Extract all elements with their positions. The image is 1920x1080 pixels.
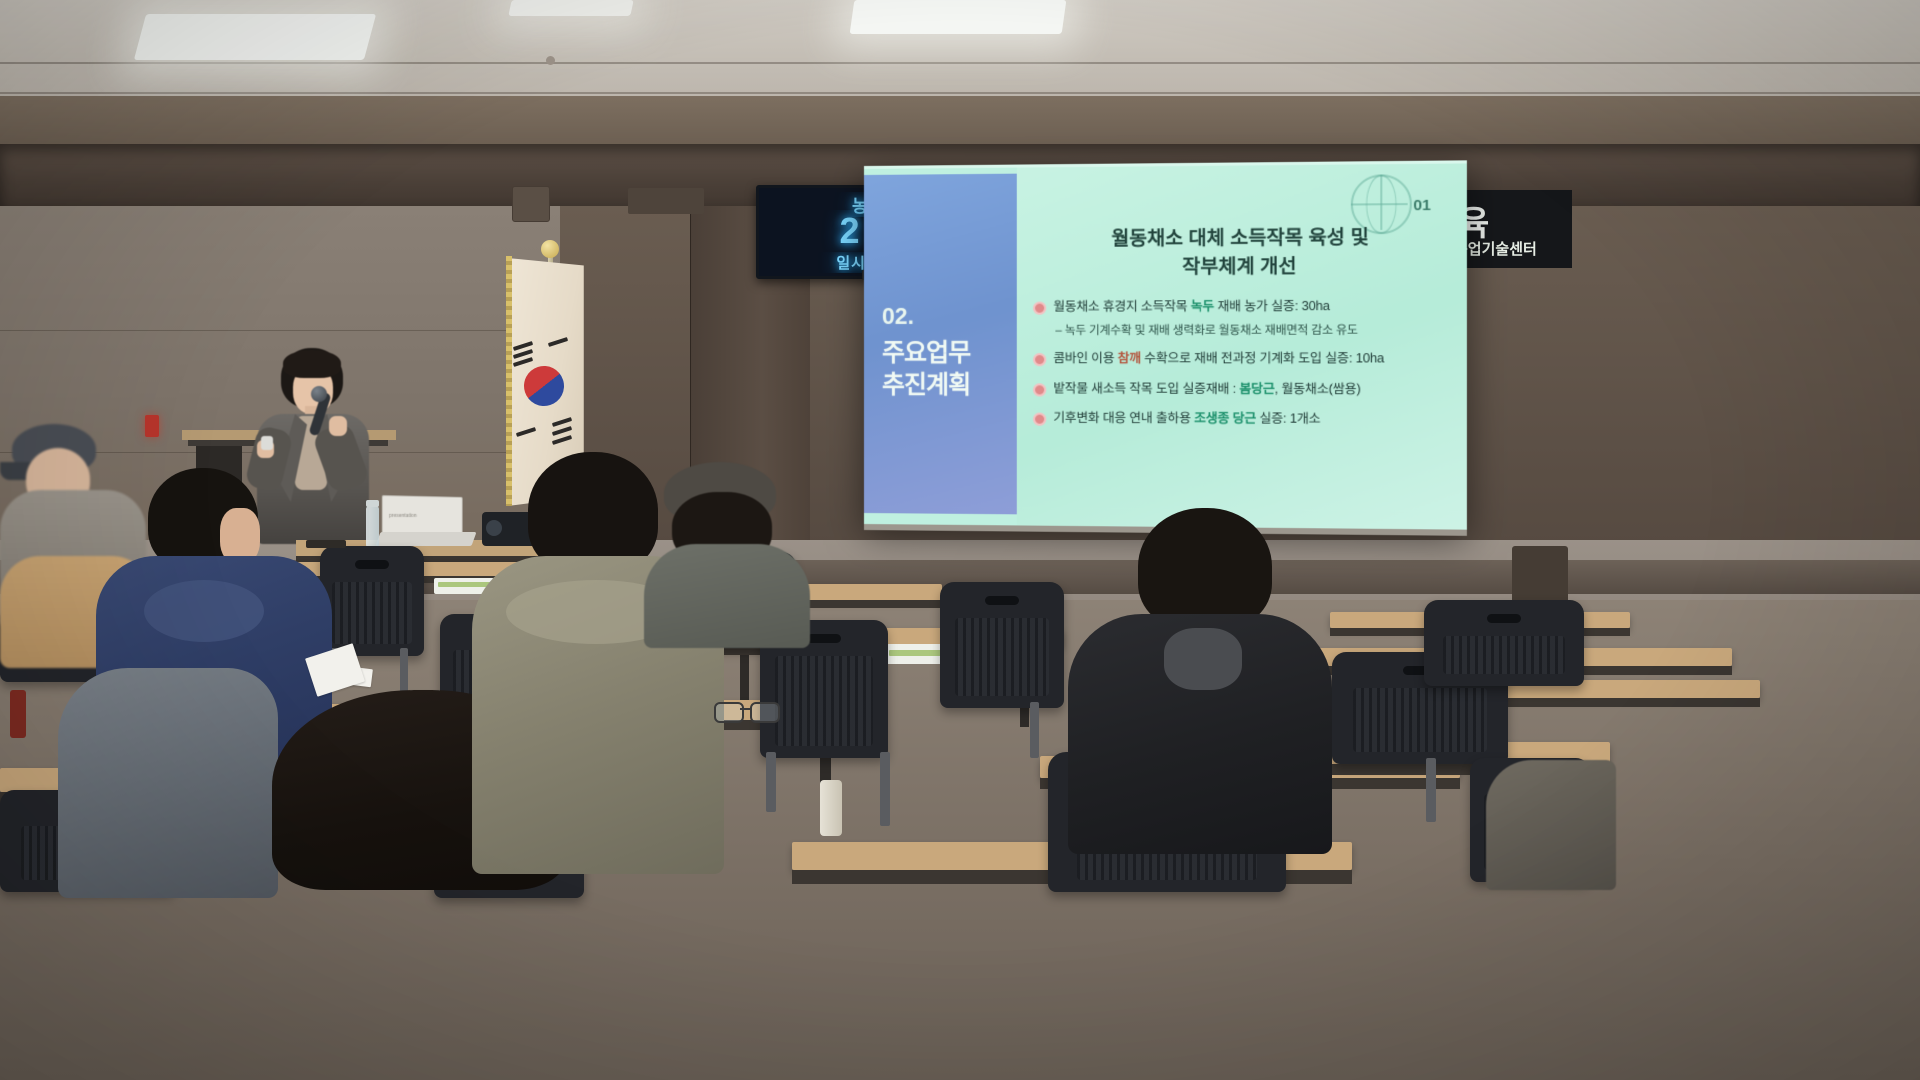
chair-handle-slot [985,596,1019,605]
projection-screen: 02. 주요업무 추진계획 01 월동채소 대체 소득작목 육성 및 작부체계 … [864,160,1467,529]
slide-bullet-list: 월동채소 휴경지 소득작목 녹두 재배 농가 실증: 30ha – 녹두 기계수… [1033,298,1454,441]
slide-bullet-item: 월동채소 휴경지 소득작목 녹두 재배 농가 실증: 30ha [1033,298,1454,315]
presenter-hand-right [329,416,347,436]
slide-bullet-item: 밭작물 새소득 작목 도입 실증재배 : 봄당근, 월동채소(쌈용) [1033,380,1454,398]
chair-leg [880,752,890,826]
ceiling-seam [0,92,1920,94]
person-torso [1486,760,1616,890]
chair-leg [766,752,776,812]
hoodie-hood [144,580,264,642]
water-bottle [366,506,379,548]
lecture-room-photo: 농업· 2 0 일시: 2025, 육 농업기술센터 02. 주요업무 추진계획… [0,0,1920,1080]
chair-back-vents [332,582,411,644]
bullet-text: 기후변화 대응 연내 출하용 조생종 당근 실증: 1개소 [1053,409,1320,427]
air-vent-icon [628,188,704,214]
water-bottle-cap [366,500,379,507]
remote-control [306,540,346,548]
person-torso [644,544,810,648]
audience-person [58,668,278,898]
ceiling-seam [0,62,1920,64]
bullet-dot-icon [1033,302,1046,315]
bullet-dot-icon [1033,383,1046,396]
slide-title-line2: 작부체계 개선 [1027,252,1456,282]
bullet-text: 밭작물 새소득 작목 도입 실증재배 : 봄당근, 월동채소(쌈용) [1053,380,1360,397]
flag-finial [541,240,559,258]
ceiling-light-panel [134,14,376,60]
slide-section-number: 02. [882,303,914,330]
person-head [1138,508,1272,630]
slide-bullet-item: 콤바인 이용 참깨 수확으로 재배 전과정 기계화 도입 실증: 10ha [1033,350,1454,367]
bullet-text: 콤바인 이용 참깨 수확으로 재배 전과정 기계화 도입 실증: 10ha [1053,350,1384,367]
wall-speaker-icon [512,186,550,222]
bullet-text: 월동채소 휴경지 소득작목 녹두 재배 농가 실증: 30ha [1053,298,1329,315]
person-collar [1164,628,1242,690]
chair-handle-slot [807,634,841,643]
slide-surface: 02. 주요업무 추진계획 01 월동채소 대체 소득작목 육성 및 작부체계 … [864,160,1467,529]
slide-title: 월동채소 대체 소득작목 육성 및 작부체계 개선 [1027,223,1456,281]
chair-back-vents [955,618,1049,696]
laptop-keyboard [375,532,476,546]
chair[interactable] [940,582,1064,708]
bullet-dot-icon [1033,353,1046,366]
person-torso [58,668,278,898]
slide-bullet-subtext: – 녹두 기계수확 및 재배 생력화로 월동채소 재배면적 감소 유도 [1055,322,1454,339]
slide-section-title-line1: 주요업무 [882,333,970,369]
chair-handle-slot [355,560,389,569]
slide-section-title-line2: 추진계획 [882,365,970,401]
ceiling-light-panel [508,0,633,16]
water-bottle [820,780,842,836]
presenter-fringe [283,350,341,378]
wall-seam [0,330,560,331]
eyeglasses [714,700,800,720]
slide-section-panel: 02. 주요업무 추진계획 [864,174,1017,515]
audience-person [1486,760,1616,890]
chair-back-vents [1443,636,1565,674]
glasses-lens-right [750,702,780,723]
audience-person [644,462,812,642]
glasses-bridge [740,708,750,710]
sprinkler-icon [546,56,555,65]
bullet-dot-icon [1033,412,1046,425]
chair-back-vents [1353,688,1487,752]
slide-corner-number: 01 [1413,197,1431,215]
glasses-lens-left [714,702,744,723]
chair-leg [1030,702,1039,758]
presentation-clicker [261,436,273,450]
chair-leg [1426,758,1436,822]
microphone-head-icon [311,386,327,402]
ceiling-light-panel [850,0,1067,34]
chair[interactable] [1424,600,1584,686]
slide-bullet-item: 기후변화 대응 연내 출하용 조생종 당근 실증: 1개소 [1033,409,1454,427]
laptop-lid-label: presentation [389,513,417,519]
thermos-bottle [10,690,26,738]
audience-person [1068,508,1336,852]
slide-title-line1: 월동채소 대체 소득작목 육성 및 [1027,223,1456,253]
right-banner: 육 농업기술센터 [1452,190,1572,268]
chair-handle-slot [1487,614,1521,623]
